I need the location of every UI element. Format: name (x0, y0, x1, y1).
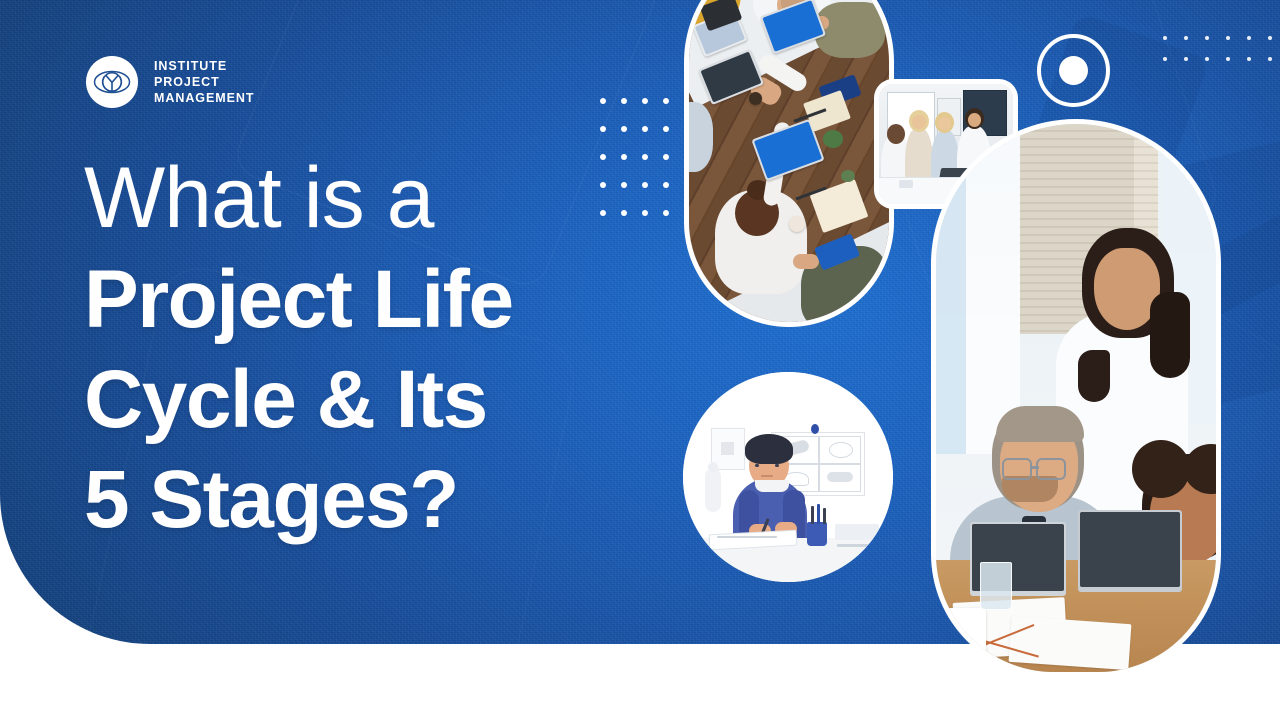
page-title: What is a Project Life Cycle & Its 5 Sta… (84, 146, 724, 550)
photo-overhead-meeting (689, 0, 889, 322)
brand-name-line-3: MANAGEMENT (154, 90, 254, 106)
concentric-circle-icon (1037, 34, 1110, 107)
thumbnail-canvas: INSTITUTE PROJECT MANAGEMENT What is a P… (0, 0, 1280, 720)
title-line-3: Cycle & Its (84, 350, 724, 450)
brand-name-line-1: INSTITUTE (154, 58, 254, 74)
brand-name-line-2: PROJECT (154, 74, 254, 90)
title-line-1: What is a (84, 146, 724, 250)
eye-logo-icon (86, 56, 138, 108)
concentric-circle-core (1059, 56, 1088, 85)
brand-name: INSTITUTE PROJECT MANAGEMENT (154, 58, 254, 106)
title-line-2: Project Life (84, 250, 724, 350)
title-line-4: 5 Stages? (84, 450, 724, 550)
photo-office-team (936, 124, 1216, 672)
illustration-designer-at-desk (683, 372, 893, 582)
brand-logo[interactable]: INSTITUTE PROJECT MANAGEMENT (86, 56, 254, 108)
